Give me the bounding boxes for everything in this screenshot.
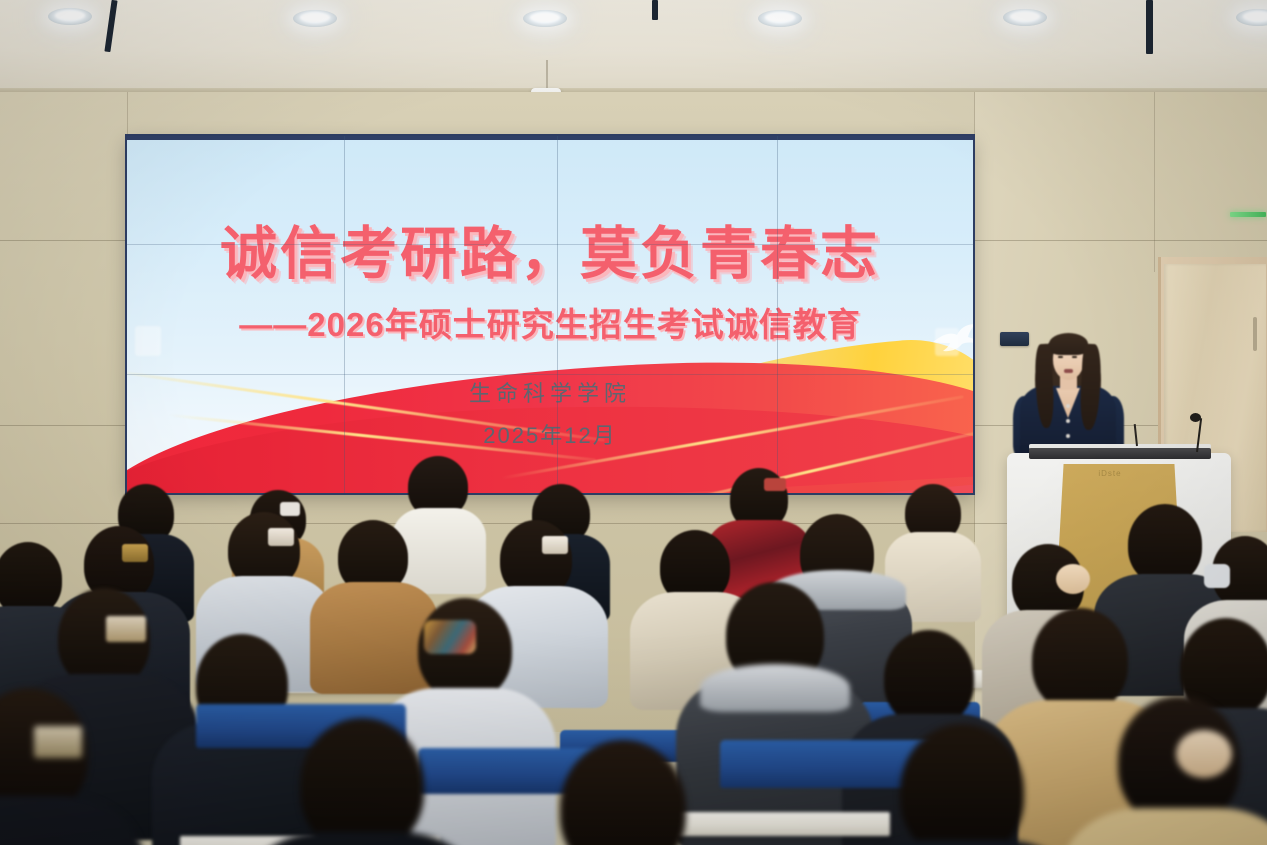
slide-subtitle: ——2026年硕士研究生招生考试诚信教育 [127, 298, 973, 346]
ceiling-pendant-rod [1146, 0, 1153, 54]
head [0, 542, 62, 616]
ceiling [0, 0, 1267, 92]
exit-sign-indicator [1230, 212, 1266, 217]
microphone-icon [1190, 413, 1201, 422]
speaker-button [1066, 419, 1070, 423]
lecture-desk [660, 812, 890, 836]
audience [0, 440, 1267, 845]
scrunchie [1056, 564, 1090, 594]
scrunchie [1176, 730, 1232, 778]
av-control-panel[interactable] [1000, 332, 1029, 346]
face-mask [1204, 564, 1230, 588]
display-glare [135, 326, 161, 356]
hair-claw-clip [122, 544, 148, 562]
hair-claw-clip [280, 502, 300, 516]
ceiling-downlight [1003, 9, 1047, 26]
fur-hood-trim [700, 664, 850, 712]
hair-claw-clip [542, 536, 568, 554]
head [1128, 504, 1202, 584]
hair-scarf [424, 620, 476, 654]
ceiling-downlight [293, 10, 337, 27]
head [884, 630, 974, 726]
ceiling-downlight [48, 8, 92, 25]
ceiling-pendant-rod [652, 0, 658, 20]
hair-claw-clip [34, 726, 82, 758]
display-glare [935, 328, 959, 356]
speaker-fringe [1049, 333, 1088, 355]
hair-accessory [764, 478, 786, 491]
speaker-button [1066, 434, 1070, 438]
lecture-hall-photo: 诚信考研路，莫负青春志 ——2026年硕士研究生招生考试诚信教育 生命科学学院 … [0, 0, 1267, 845]
speaker-mouth [1064, 369, 1073, 373]
hair-claw-clip [268, 528, 294, 546]
display-panel-seam [127, 374, 973, 375]
hair-claw-clip [106, 616, 146, 642]
head [1032, 608, 1128, 712]
head [300, 718, 424, 845]
speaker-eye [1072, 356, 1077, 358]
speaker-button [1066, 404, 1070, 408]
slide-organization: 生命科学学院 [127, 376, 973, 408]
display-panel-seam [127, 244, 973, 245]
ceiling-downlight [523, 10, 567, 27]
ceiling-downlight [758, 10, 802, 27]
door-handle[interactable] [1253, 317, 1257, 351]
wall-panel-seam-vertical [1154, 92, 1155, 272]
speaker-eye [1058, 356, 1063, 358]
slide-title: 诚信考研路，莫负青春志 [127, 208, 973, 290]
